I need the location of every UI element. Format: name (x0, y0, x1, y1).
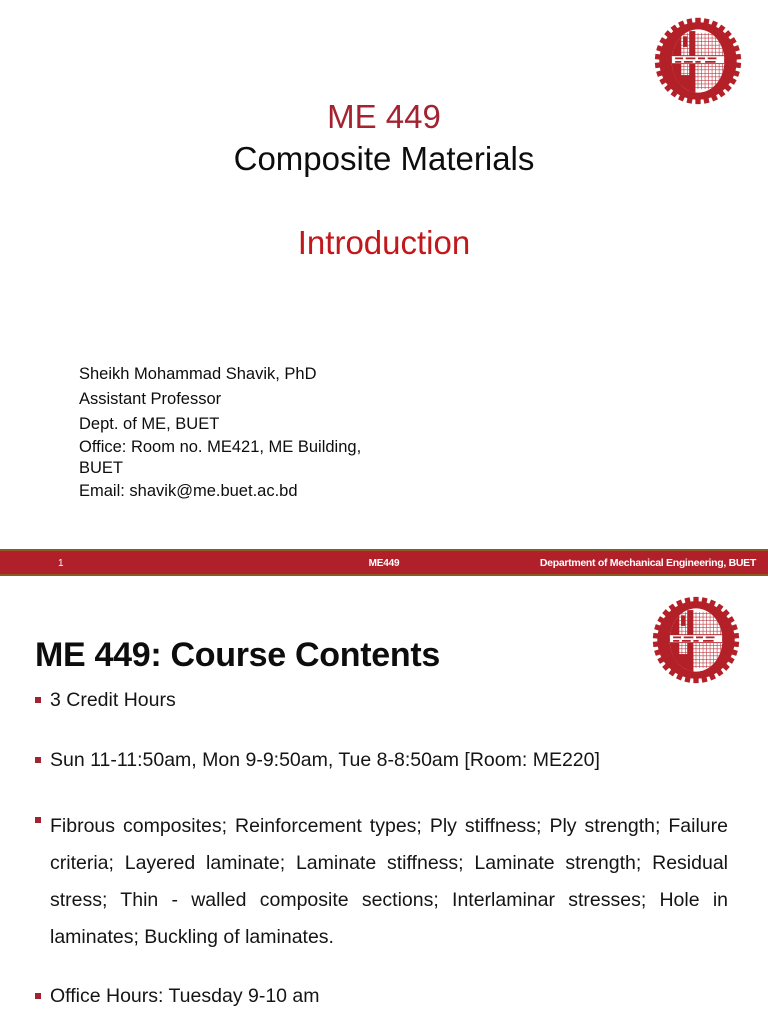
author-email: Email: shavik@me.buet.ac.bd (79, 479, 509, 504)
course-contents-list: 3 Credit Hours Sun 11-11:50am, Mon 9-9:5… (33, 688, 728, 1008)
page-title: ME 449: Course Contents (35, 633, 440, 677)
author-department: Dept. of ME, BUET (79, 412, 509, 437)
slide-footer-bar: 1 ME449 Department of Mechanical Enginee… (0, 549, 768, 576)
title-subtitle: Introduction (0, 222, 768, 264)
title-spacer (0, 180, 768, 222)
title-course-name: Composite Materials (0, 138, 768, 180)
author-office-line-2: BUET (79, 458, 509, 479)
presentation-page: ME 449 Composite Materials Introduction … (0, 0, 768, 1024)
author-name: Sheikh Mohammad Shavik, PhD (79, 362, 509, 387)
author-office-line-1: Office: Room no. ME421, ME Building, (79, 437, 509, 458)
author-block: Sheikh Mohammad Shavik, PhD Assistant Pr… (79, 362, 509, 504)
list-item: Sun 11-11:50am, Mon 9-9:50am, Tue 8-8:50… (33, 748, 728, 772)
list-item: Office Hours: Tuesday 9-10 am (33, 984, 728, 1008)
list-item: 3 Credit Hours (33, 688, 728, 712)
list-item: Fibrous composites; Reinforcement types;… (33, 808, 728, 956)
author-designation: Assistant Professor (79, 387, 509, 412)
footer-department: Department of Mechanical Engineering, BU… (540, 556, 756, 570)
slide-course-contents: ME 449: Course Contents 3 Credit Hours S… (0, 578, 768, 1024)
title-block: ME 449 Composite Materials Introduction (0, 96, 768, 264)
buet-gear-logo-icon (654, 17, 742, 105)
buet-gear-logo-icon (652, 596, 740, 684)
slide-title: ME 449 Composite Materials Introduction … (0, 0, 768, 546)
title-course-code: ME 449 (0, 96, 768, 138)
